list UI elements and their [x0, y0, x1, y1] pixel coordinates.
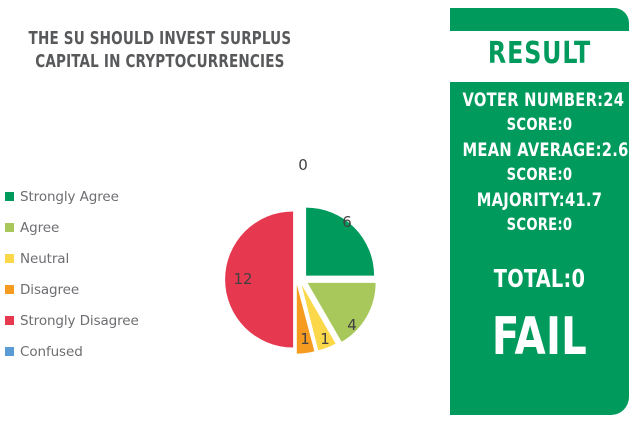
result-verdict: FAIL [463, 308, 617, 366]
result-panel-body: VOTER NUMBER:24 SCORE:0 MEAN AVERAGE:2.6… [450, 82, 629, 415]
legend-label: Strongly Disagree [20, 313, 139, 329]
pie-label-agree: 4 [347, 316, 357, 334]
legend-swatch-icon [5, 254, 14, 263]
pie-label-strongly-agree: 6 [342, 213, 352, 231]
legend-label: Confused [20, 344, 83, 360]
pie-label-confused: 0 [298, 156, 308, 174]
legend-label: Agree [20, 220, 59, 236]
chart-panel: THE SU SHOULD INVEST SURPLUS CAPITAL IN … [0, 0, 440, 428]
legend-item-agree[interactable]: Agree [5, 212, 175, 243]
legend-item-confused[interactable]: Confused [5, 336, 175, 367]
result-majority-score: SCORE:0 [463, 213, 617, 238]
legend-item-strongly-disagree[interactable]: Strongly Disagree [5, 305, 175, 336]
result-majority: MAJORITY:41.7 [463, 188, 617, 213]
pie-label-strongly-disagree: 12 [233, 270, 252, 288]
legend-label: Disagree [20, 282, 79, 298]
legend-label: Neutral [20, 251, 69, 267]
legend-swatch-icon [5, 285, 14, 294]
pie-label-disagree: 1 [300, 330, 310, 348]
legend-swatch-icon [5, 347, 14, 356]
result-total: TOTAL:0 [463, 264, 617, 294]
result-voter-score: SCORE:0 [463, 113, 617, 138]
result-panel: RESULT VOTER NUMBER:24 SCORE:0 MEAN AVER… [446, 0, 636, 428]
result-panel-topbar [450, 8, 629, 31]
result-voter-number: VOTER NUMBER:24 [463, 88, 617, 113]
legend-swatch-icon [5, 223, 14, 232]
legend-label: Strongly Agree [20, 189, 119, 205]
legend-item-neutral[interactable]: Neutral [5, 243, 175, 274]
chart-legend: Strongly Agree Agree Neutral Disagree St… [5, 181, 175, 367]
pie-chart: 0 6 4 1 1 12 [195, 148, 425, 408]
legend-swatch-icon [5, 316, 14, 325]
result-heading: RESULT [461, 30, 619, 78]
legend-item-disagree[interactable]: Disagree [5, 274, 175, 305]
legend-swatch-icon [5, 192, 14, 201]
legend-item-strongly-agree[interactable]: Strongly Agree [5, 181, 175, 212]
result-mean-average: MEAN AVERAGE:2.63 [463, 138, 617, 163]
pie-chart-svg: 0 6 4 1 1 12 [195, 148, 425, 408]
chart-title: THE SU SHOULD INVEST SURPLUS CAPITAL IN … [18, 28, 302, 74]
result-mean-score: SCORE:0 [463, 163, 617, 188]
pie-label-neutral: 1 [320, 330, 330, 348]
pie-slice-strongly-agree[interactable] [306, 208, 374, 276]
